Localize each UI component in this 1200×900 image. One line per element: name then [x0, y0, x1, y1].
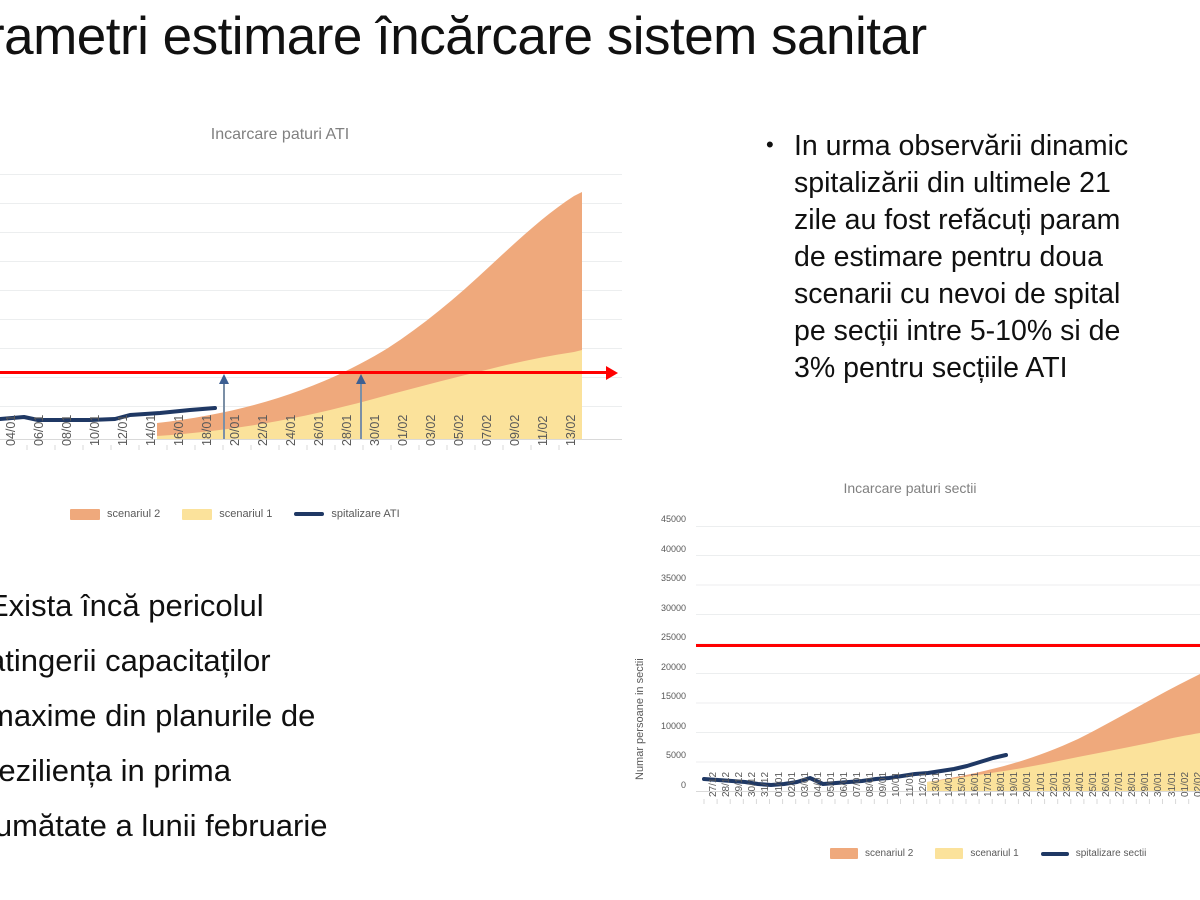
chart-ati-x-label: 10/01 — [88, 415, 102, 446]
chart-sectii-x-label: 11/01 — [905, 773, 916, 797]
chart-sectii-y-label: 0 — [642, 780, 686, 790]
chart-sectii-x-label: 02/02 — [1193, 772, 1200, 797]
chart-ati-marker-1-stem — [223, 382, 225, 440]
chart-sectii-legend-item-spitalizare: spitalizare sectii — [1041, 848, 1147, 859]
chart-sectii-legend-item-scenariul2: scenariul 2 — [830, 848, 913, 859]
chart-ati-title: Incarcare paturi ATI — [0, 126, 600, 144]
chart-sectii-x-label: 29/01 — [1140, 772, 1151, 797]
scenariul-1-swatch-icon — [182, 509, 212, 520]
left-text-line-4: reziliența in prima — [0, 743, 488, 798]
chart-sectii-svg — [696, 526, 1200, 792]
right-text-line-7: 3% pentru secțiile ATI — [794, 350, 1200, 387]
chart-ati-x-label: 14/01 — [144, 415, 158, 446]
chart-ati-x-label: 16/01 — [172, 415, 186, 446]
right-text-paragraph: In urma observării dinamicspitalizării d… — [794, 128, 1200, 387]
chart-ati-legend-item-spitalizare: spitalizare ATI — [294, 508, 399, 520]
chart-sectii-y-label: 40000 — [642, 544, 686, 554]
chart-ati-x-label: 04/01 — [4, 415, 18, 446]
chart-sectii-x-label: 15/01 — [957, 772, 968, 797]
chart-sectii-x-label: 18/01 — [996, 772, 1007, 797]
chart-sectii-x-label: 09/01 — [878, 772, 889, 797]
scenariul-2-swatch-icon — [70, 509, 100, 520]
chart-ati-x-label: 24/01 — [284, 415, 298, 446]
chart-sectii-x-label: 12/01 — [918, 772, 929, 797]
chart-ati-x-label: 05/02 — [452, 415, 466, 446]
chart-sectii-x-label: 21/01 — [1036, 772, 1047, 797]
chart-ati-marker-2-stem — [360, 382, 362, 440]
chart-ati-svg — [0, 174, 622, 440]
chart-ati-x-label: 30/01 — [368, 415, 382, 446]
chart-sectii-x-label: 14/01 — [944, 772, 955, 797]
chart-sectii-x-label: 28/01 — [1127, 772, 1138, 797]
chart-sectii-x-label: 07/01 — [852, 772, 863, 797]
chart-sectii-legend-label-scenariul2: scenariul 2 — [865, 848, 913, 859]
chart-sectii-x-label: 13/01 — [931, 772, 942, 797]
chart-sectii-x-label: 31/12 — [760, 772, 771, 797]
right-text-block: • In urma observării dinamicspitalizării… — [760, 128, 1200, 408]
chart-sectii-y-label: 20000 — [642, 662, 686, 672]
chart-sectii-y-label: 25000 — [642, 632, 686, 642]
spitalizare-sectii-swatch-icon — [1041, 852, 1069, 856]
chart-sectii-x-label: 10/01 — [891, 772, 902, 797]
left-text-line-5: jumătate a lunii februarie — [0, 798, 488, 853]
right-text-line-3: zile au fost refăcuți param — [794, 202, 1200, 239]
chart-sectii-x-label: 16/01 — [970, 772, 981, 797]
right-text-line-5: scenarii cu nevoi de spital — [794, 276, 1200, 313]
bullet-icon: • — [766, 134, 774, 156]
chart-sectii-x-label: 22/01 — [1049, 772, 1060, 797]
chart-sectii-y-label: 30000 — [642, 603, 686, 613]
slide-root: arametri estimare încărcare sistem sanit… — [0, 0, 1200, 900]
chart-ati-legend-label-scenariul1: scenariul 1 — [219, 508, 272, 520]
chart-sectii-x-label: 31/01 — [1167, 772, 1178, 797]
chart-ati-x-label: 03/02 — [424, 415, 438, 446]
chart-sectii-x-label: 28/12 — [721, 772, 732, 797]
chart-ati-x-label: 11/02 — [536, 416, 550, 446]
chart-incarcare-paturi-sectii: Incarcare paturi sectii Numar persoane i… — [620, 470, 1200, 900]
chart-ati-x-label: 08/01 — [60, 415, 74, 446]
chart-sectii-x-label: 06/01 — [839, 772, 850, 797]
chart-ati-x-label: 28/01 — [340, 415, 354, 446]
chart-sectii-x-label: 30/01 — [1153, 772, 1164, 797]
chart-ati-marker-1-arrow-icon — [219, 374, 229, 384]
chart-ati-x-label: 26/01 — [312, 415, 326, 446]
right-text-line-6: pe secții intre 5-10% si de — [794, 313, 1200, 350]
right-text-line-4: de estimare pentru doua — [794, 239, 1200, 276]
chart-sectii-x-label: 20/01 — [1022, 772, 1033, 797]
chart-ati-x-label: 06/01 — [32, 415, 46, 446]
left-text-paragraph: Exista încă pericolulatingerii capacitaț… — [0, 578, 488, 853]
chart-ati-x-label: 07/02 — [480, 415, 494, 446]
right-text-line-2: spitalizării din ultimele 21 — [794, 165, 1200, 202]
chart-sectii-threshold-line — [696, 644, 1200, 647]
scenariul-2-swatch-icon — [830, 848, 858, 859]
chart-sectii-x-label: 05/01 — [826, 772, 837, 797]
chart-ati-x-label: 01/02 — [396, 415, 410, 446]
left-text-block: Exista încă pericolulatingerii capacitaț… — [0, 578, 488, 868]
chart-ati-legend-item-scenariul2: scenariul 2 — [70, 508, 160, 520]
chart-ati-marker-2-arrow-icon — [356, 374, 366, 384]
chart-sectii-x-label: 08/01 — [865, 772, 876, 797]
chart-ati-threshold-line — [0, 371, 610, 374]
chart-sectii-x-label: 29/12 — [734, 772, 745, 797]
chart-sectii-x-label: 17/01 — [983, 772, 994, 797]
chart-sectii-legend: scenariul 2 scenariul 1 spitalizare sect… — [830, 848, 1146, 859]
chart-sectii-x-labels: 27/1228/1229/1230/1231/1201/0102/0103/01… — [696, 797, 1200, 847]
page-title: arametri estimare încărcare sistem sanit… — [0, 8, 1200, 66]
chart-sectii-x-label: 04/01 — [813, 772, 824, 797]
chart-sectii-x-label: 27/01 — [1114, 772, 1125, 797]
chart-ati-x-labels: 02/0104/0106/0108/0110/0112/0114/0116/01… — [0, 446, 622, 506]
chart-sectii-x-label: 03/01 — [800, 772, 811, 797]
chart-ati-x-label: 22/01 — [256, 415, 270, 446]
chart-ati-x-label: 13/02 — [564, 415, 578, 446]
chart-sectii-y-labels: 4500040000350003000025000200001500010000… — [642, 510, 692, 810]
chart-sectii-x-label: 01/01 — [774, 772, 785, 797]
chart-sectii-x-label: 26/01 — [1101, 772, 1112, 797]
spitalizare-ati-swatch-icon — [294, 512, 324, 516]
scenariul-1-swatch-icon — [935, 848, 963, 859]
chart-ati-threshold-arrow-icon — [606, 366, 618, 380]
chart-sectii-y-label: 35000 — [642, 573, 686, 583]
chart-sectii-x-label: 27/12 — [708, 772, 719, 797]
chart-ati-legend-item-scenariul1: scenariul 1 — [182, 508, 272, 520]
chart-ati-x-label: 12/01 — [116, 415, 130, 446]
chart-sectii-y-label: 15000 — [642, 691, 686, 701]
chart-sectii-x-label: 23/01 — [1062, 772, 1073, 797]
chart-sectii-legend-item-scenariul1: scenariul 1 — [935, 848, 1018, 859]
left-text-line-2: atingerii capacitaților — [0, 633, 488, 688]
chart-sectii-plot-area — [696, 526, 1200, 792]
chart-sectii-x-label: 19/01 — [1009, 772, 1020, 797]
chart-sectii-x-label: 01/02 — [1180, 772, 1191, 797]
chart-sectii-x-label: 25/01 — [1088, 772, 1099, 797]
chart-sectii-x-label: 24/01 — [1075, 772, 1086, 797]
chart-sectii-legend-label-spitalizare: spitalizare sectii — [1076, 848, 1147, 859]
chart-sectii-title: Incarcare paturi sectii — [620, 480, 1200, 496]
right-text-line-1: In urma observării dinamic — [794, 128, 1200, 165]
chart-sectii-y-label: 10000 — [642, 721, 686, 731]
chart-ati-legend: scenariul 2 scenariul 1 spitalizare ATI — [70, 508, 400, 520]
left-text-line-1: Exista încă pericolul — [0, 578, 488, 633]
chart-ati-x-label: 18/01 — [200, 415, 214, 446]
chart-sectii-legend-label-scenariul1: scenariul 1 — [970, 848, 1018, 859]
chart-sectii-y-label: 5000 — [642, 750, 686, 760]
chart-ati-plot-area — [0, 174, 622, 440]
chart-sectii-y-label: 45000 — [642, 514, 686, 524]
chart-ati-x-label: 20/01 — [228, 415, 242, 446]
chart-incarcare-paturi-ati: Incarcare paturi ATI — [0, 120, 640, 540]
chart-sectii-x-label: 30/12 — [747, 772, 758, 797]
chart-ati-legend-label-scenariul2: scenariul 2 — [107, 508, 160, 520]
chart-ati-legend-label-spitalizare: spitalizare ATI — [331, 508, 399, 520]
left-text-line-3: maxime din planurile de — [0, 688, 488, 743]
chart-ati-x-label: 09/02 — [508, 415, 522, 446]
chart-sectii-x-label: 02/01 — [787, 772, 798, 797]
